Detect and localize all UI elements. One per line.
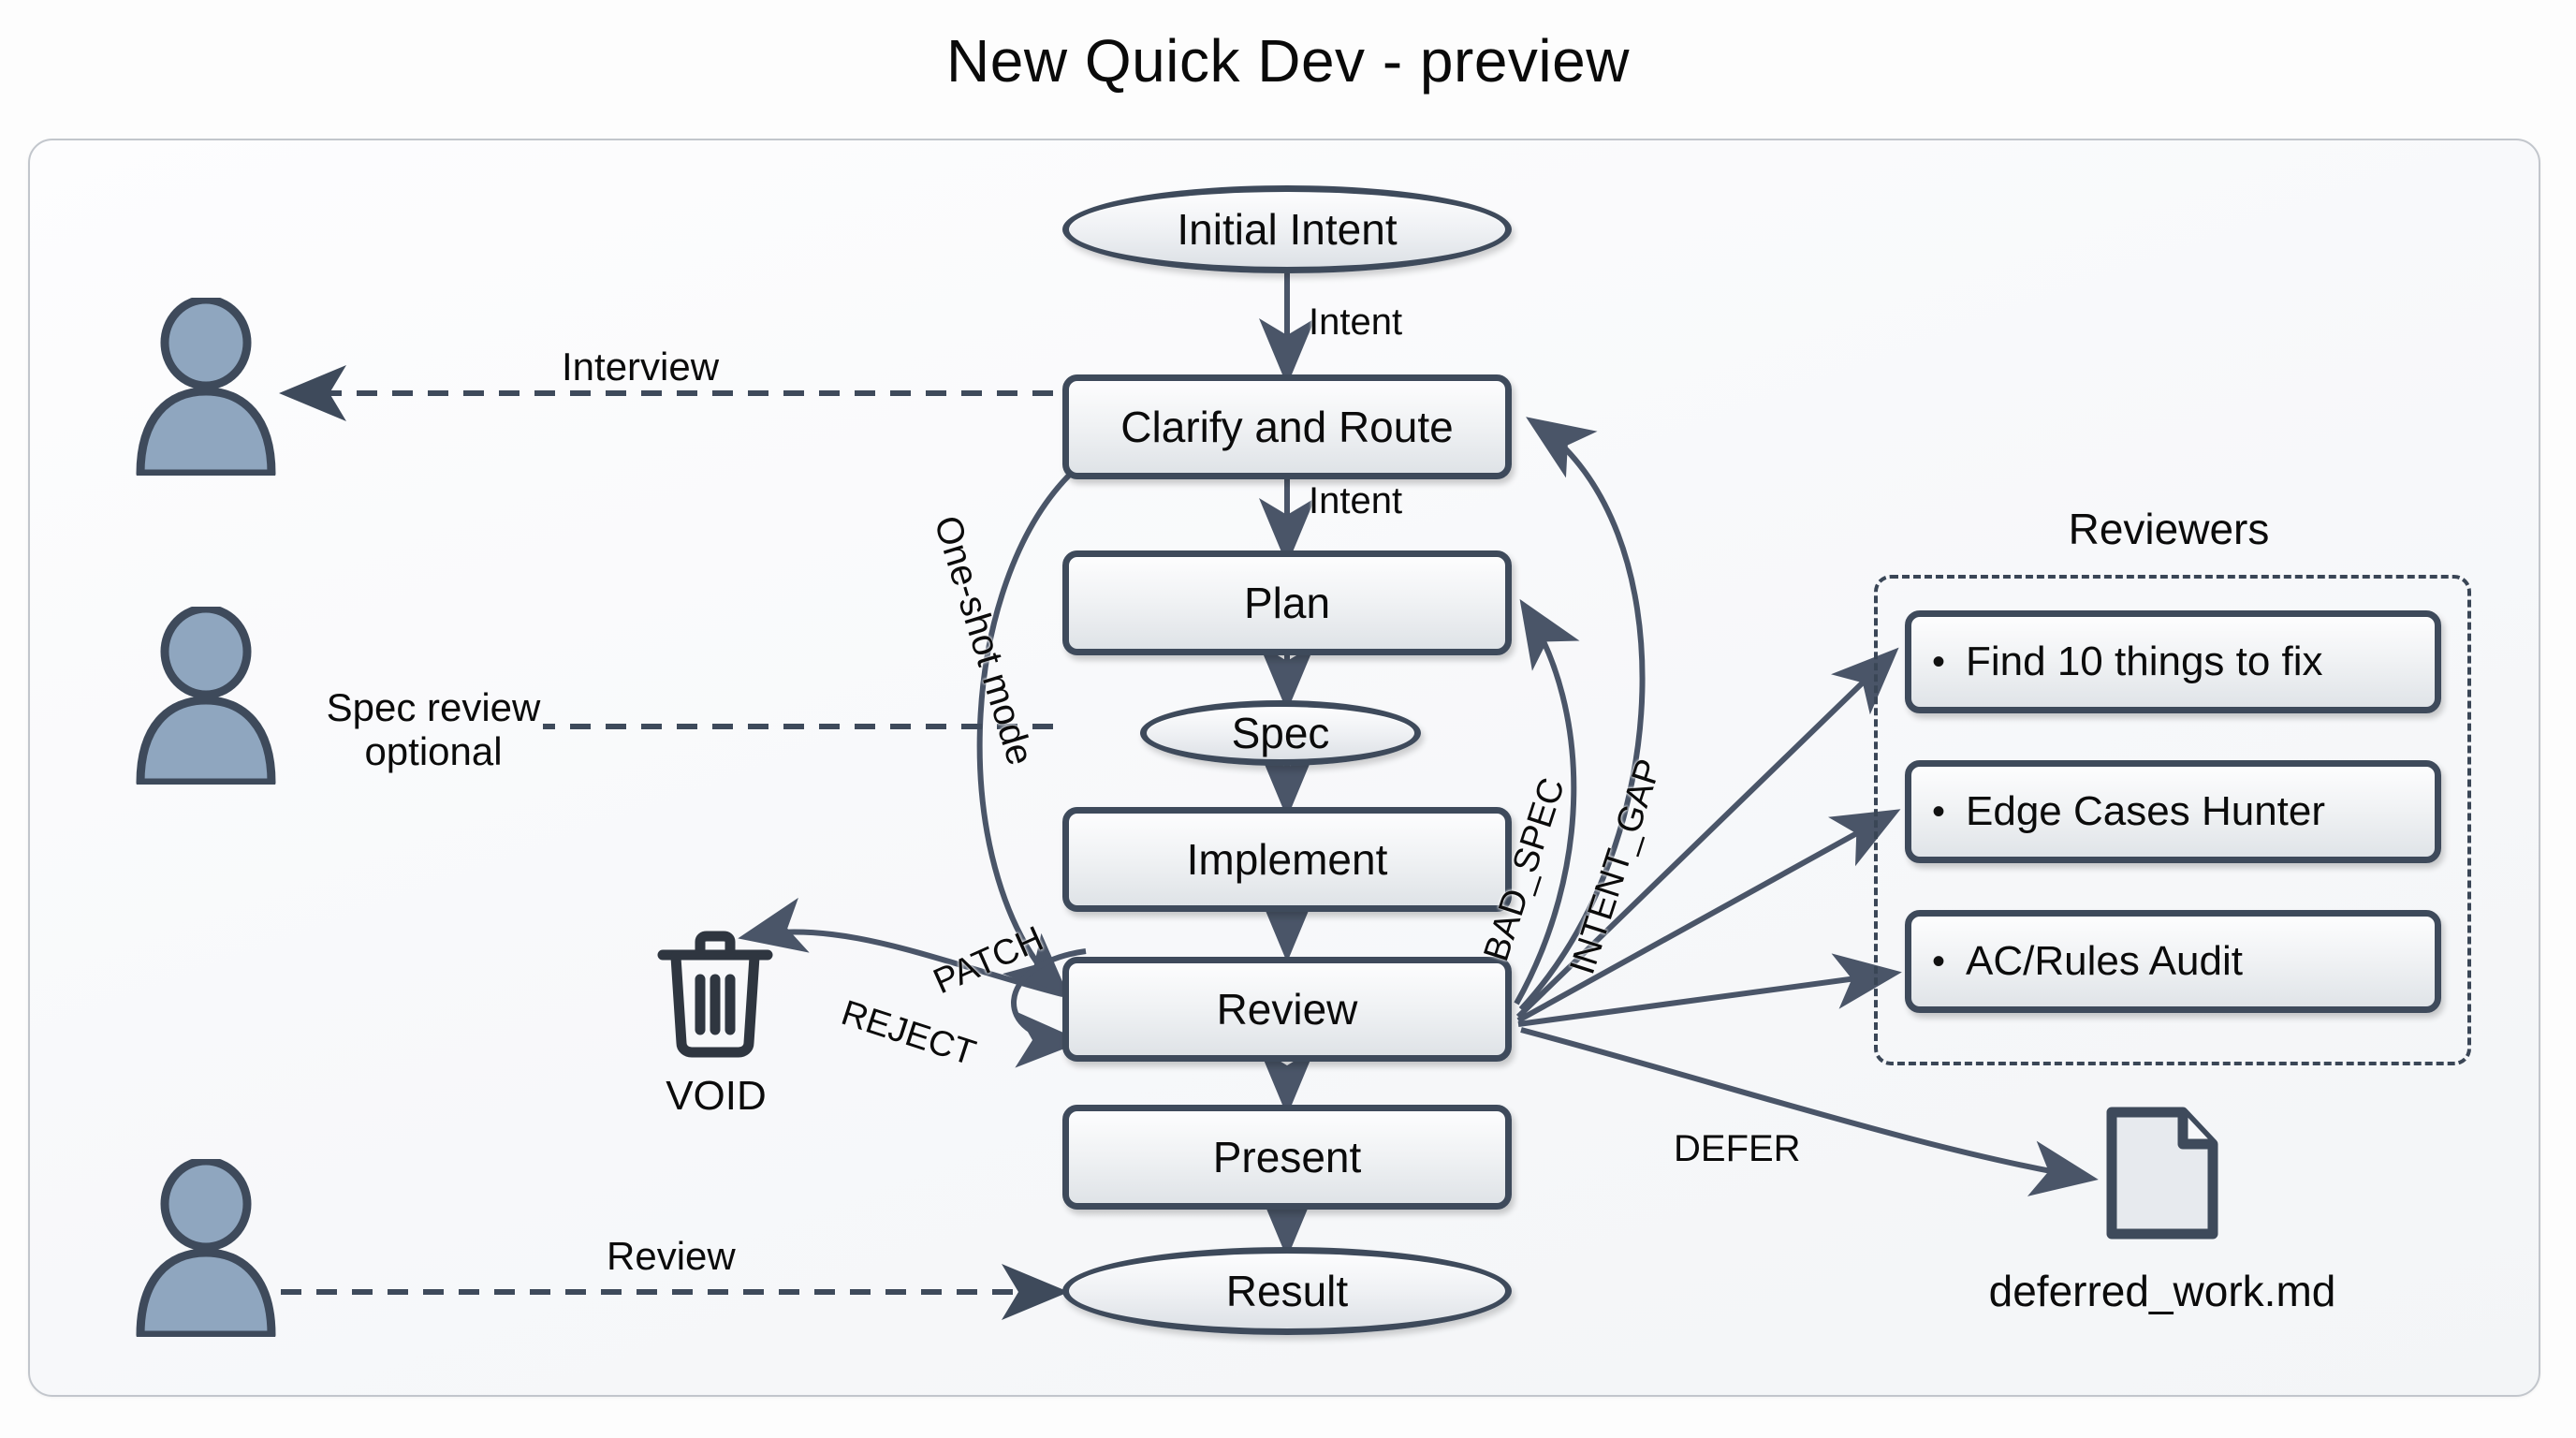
node-label: Clarify and Route xyxy=(1120,402,1453,452)
person-icon xyxy=(131,607,281,785)
actor-interview[interactable] xyxy=(131,298,281,476)
node-review[interactable]: Review xyxy=(1062,957,1512,1062)
node-initial-intent[interactable]: Initial Intent xyxy=(1062,185,1512,273)
node-result[interactable]: Result xyxy=(1062,1247,1512,1335)
node-label: Present xyxy=(1213,1132,1362,1182)
edge-label-spec-review: Spec review optional xyxy=(298,685,569,773)
reviewer-label: AC/Rules Audit xyxy=(1966,938,2243,985)
edge-label-intent-1: Intent xyxy=(1309,301,1402,344)
actor-review[interactable] xyxy=(131,1159,281,1337)
node-plan[interactable]: Plan xyxy=(1062,550,1512,655)
edge-label-defer: DEFER xyxy=(1674,1128,1801,1170)
node-spec[interactable]: Spec xyxy=(1140,700,1421,766)
reviewer-item-find-10-things-to-fix[interactable]: • Find 10 things to fix xyxy=(1905,610,2441,713)
person-icon xyxy=(131,1159,281,1337)
reviewer-label: Find 10 things to fix xyxy=(1966,638,2323,685)
node-clarify-and-route[interactable]: Clarify and Route xyxy=(1062,374,1512,479)
edge-label-spec-review-line2: optional xyxy=(298,729,569,773)
reviewer-label: Edge Cases Hunter xyxy=(1966,788,2325,835)
node-present[interactable]: Present xyxy=(1062,1105,1512,1210)
actor-spec-review[interactable] xyxy=(131,607,281,785)
edge-label-intent-2: Intent xyxy=(1309,480,1402,522)
edge-label-spec-review-line1: Spec review xyxy=(298,685,569,729)
reviewers-group-title: Reviewers xyxy=(1874,504,2464,554)
bullet-icon: • xyxy=(1932,943,1945,980)
document-icon[interactable] xyxy=(2104,1103,2220,1243)
edge-label-interview: Interview xyxy=(562,345,719,389)
node-label: Plan xyxy=(1244,578,1330,628)
edge-label-review-actor: Review xyxy=(607,1234,736,1279)
reviewer-item-ac-rules-audit[interactable]: • AC/Rules Audit xyxy=(1905,910,2441,1013)
node-label: Spec xyxy=(1232,708,1330,758)
artifact-label-void: VOID xyxy=(618,1073,814,1120)
trash-icon[interactable] xyxy=(655,927,775,1058)
reviewer-item-edge-cases-hunter[interactable]: • Edge Cases Hunter xyxy=(1905,760,2441,863)
person-icon xyxy=(131,298,281,476)
page-title: New Quick Dev - preview xyxy=(0,26,2576,95)
artifact-label-deferred-work: deferred_work.md xyxy=(1928,1266,2396,1316)
node-label: Result xyxy=(1226,1266,1348,1316)
bullet-icon: • xyxy=(1932,643,1945,681)
diagram-canvas: New Quick Dev - preview xyxy=(0,0,2576,1438)
node-label: Initial Intent xyxy=(1177,204,1397,255)
node-label: Review xyxy=(1217,984,1358,1034)
bullet-icon: • xyxy=(1932,793,1945,830)
node-label: Implement xyxy=(1187,834,1388,885)
node-implement[interactable]: Implement xyxy=(1062,807,1512,912)
